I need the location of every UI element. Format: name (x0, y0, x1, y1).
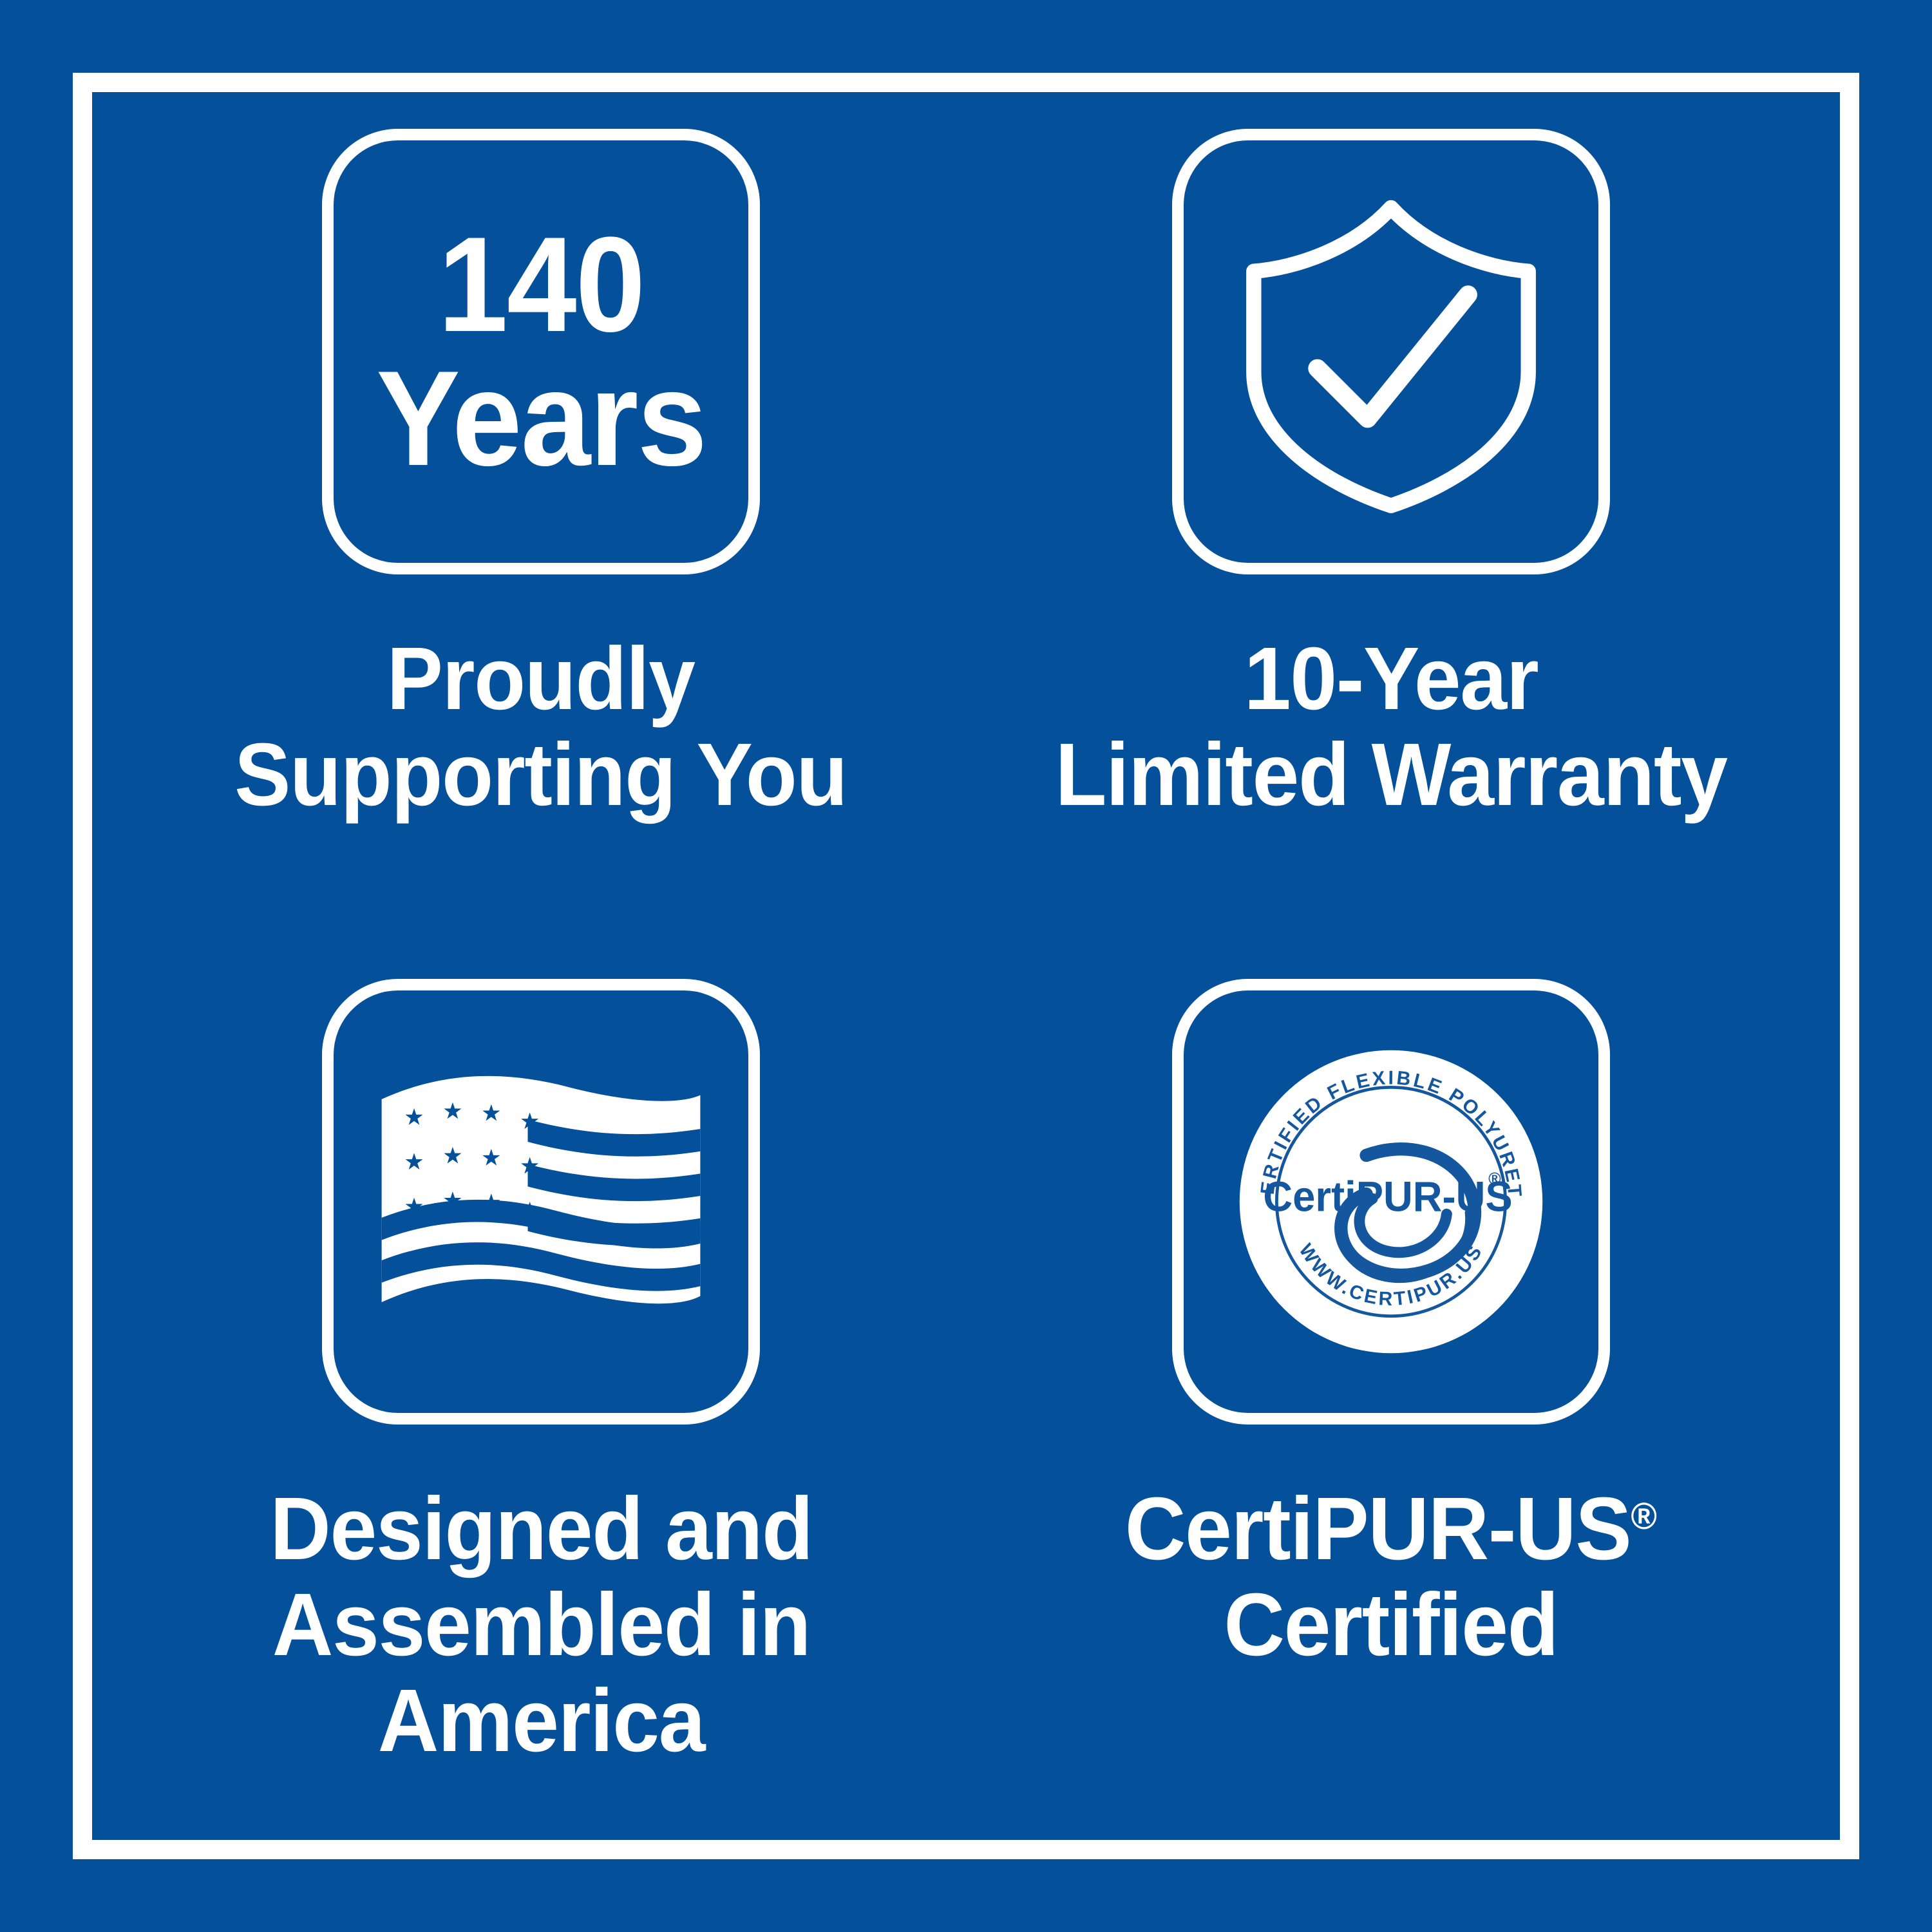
warranty-icon-frame (1172, 129, 1610, 574)
feature-card-warranty: 10-Year Limited Warranty (966, 129, 1816, 979)
feature-caption-warranty: 10-Year Limited Warranty (1055, 631, 1727, 823)
caption-line: Supporting You (234, 727, 847, 823)
certipur-us-seal-icon: CONTAINS CERTIFIED FLEXIBLE POLYURETHANE… (1236, 1047, 1546, 1356)
seal-wordmark: CertiPUR-US ® (1263, 1170, 1512, 1220)
caption-line: Certified (1125, 1577, 1657, 1673)
feature-caption-certipur: CertiPUR-US® Certified (1125, 1481, 1657, 1673)
svg-text:®: ® (1488, 1170, 1501, 1189)
shield-check-icon (1224, 184, 1558, 519)
caption-line: Designed and (270, 1481, 812, 1577)
caption-line: Proudly (234, 631, 847, 727)
badge-number-block: 140 Years (376, 218, 706, 486)
flag-icon-frame (322, 979, 760, 1425)
caption-line: CertiPUR-US® (1125, 1481, 1657, 1577)
feature-card-certipur: CONTAINS CERTIFIED FLEXIBLE POLYURETHANE… (966, 979, 1816, 1829)
feature-card-heritage: 140 Years Proudly Supporting You (116, 129, 966, 979)
feature-caption-made-in-america: Designed and Assembled in America (270, 1481, 812, 1769)
caption-line: 10-Year (1055, 631, 1727, 727)
badge-unit: Years (376, 352, 706, 486)
caption-line: Assembled in (270, 1577, 812, 1673)
feature-caption-heritage: Proudly Supporting You (234, 631, 847, 823)
caption-line: Limited Warranty (1055, 727, 1727, 823)
feature-card-made-in-america: Designed and Assembled in America (116, 979, 966, 1829)
feature-grid: 140 Years Proudly Supporting You 10-Year… (116, 129, 1816, 1829)
badge-number: 140 (438, 209, 644, 360)
us-flag-icon (374, 1063, 708, 1340)
svg-text:CertiPUR-US: CertiPUR-US (1263, 1172, 1512, 1220)
140-years-badge-icon: 140 Years (322, 129, 760, 574)
promo-poster: 140 Years Proudly Supporting You 10-Year… (0, 0, 1932, 1932)
certipur-icon-frame: CONTAINS CERTIFIED FLEXIBLE POLYURETHANE… (1172, 979, 1610, 1425)
caption-text: CertiPUR-US (1125, 1479, 1631, 1578)
registered-mark: ® (1631, 1496, 1658, 1537)
caption-line: America (270, 1673, 812, 1769)
